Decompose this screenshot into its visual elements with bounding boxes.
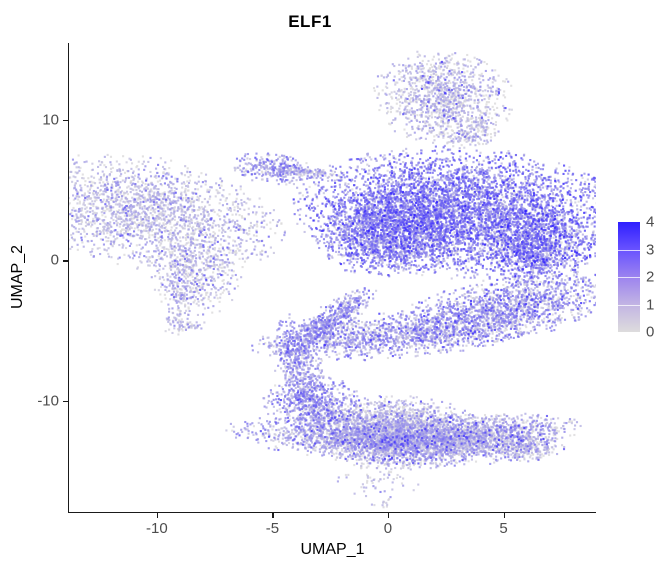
y-tick-mark	[63, 260, 68, 261]
legend-tick-label: 3	[646, 242, 654, 257]
x-tick-label: -5	[266, 520, 279, 537]
x-tick-mark	[272, 513, 273, 518]
y-tick-mark	[63, 401, 68, 402]
y-axis-line	[68, 43, 69, 513]
y-tick-label: -10	[37, 392, 59, 409]
y-tick-label: 10	[42, 112, 59, 129]
plot-panel	[69, 43, 596, 513]
x-tick-mark	[388, 513, 389, 518]
x-axis-line	[69, 512, 596, 513]
y-tick-label: 0	[51, 252, 59, 269]
legend-tick-mark	[618, 250, 640, 251]
x-axis-title: UMAP_1	[69, 541, 596, 559]
legend-tick-label: 0	[646, 325, 654, 340]
legend-tick-label: 1	[646, 297, 654, 312]
x-tick-label: 5	[499, 520, 507, 537]
x-tick-label: 0	[384, 520, 392, 537]
x-tick-mark	[157, 513, 158, 518]
legend-gradient-wrap	[618, 222, 640, 332]
legend-tick-label: 2	[646, 270, 654, 285]
y-tick-mark	[63, 120, 68, 121]
x-tick-label: -10	[146, 520, 168, 537]
legend-tick-mark	[618, 305, 640, 306]
legend-tick-label: 4	[646, 215, 654, 230]
color-legend: 43210	[618, 220, 672, 336]
page-title: ELF1	[0, 12, 620, 32]
umap-feature-plot: ELF1 -10-505 -10010 UMAP_1 UMAP_2 43210	[0, 0, 672, 576]
scatter-plot-canvas	[69, 43, 596, 513]
x-tick-mark	[504, 513, 505, 518]
legend-tick-mark	[618, 277, 640, 278]
y-axis-title: UMAP_2	[9, 197, 27, 357]
legend-tick-mark	[618, 332, 640, 333]
